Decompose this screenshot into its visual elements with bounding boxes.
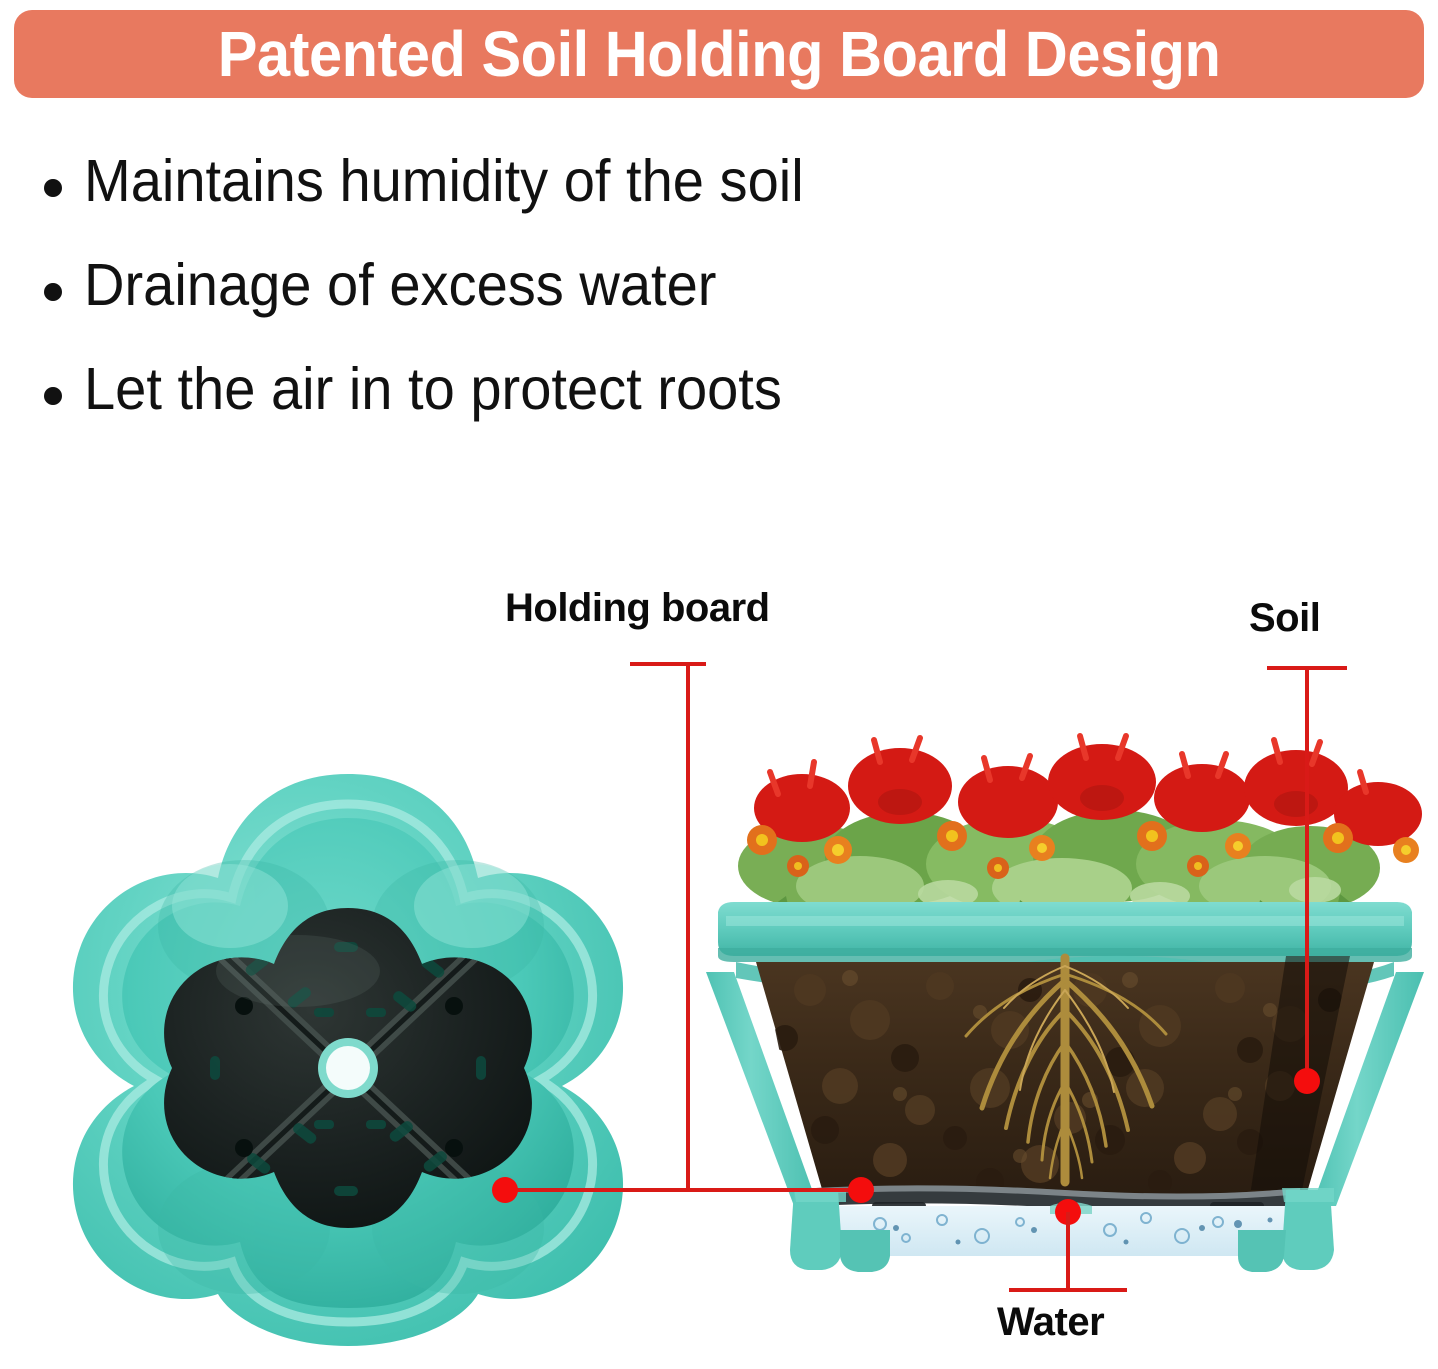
leader-bar-holding-board [505,1188,868,1192]
bullet-dot-icon [44,283,62,301]
leader-stem-holding-board [686,662,690,1190]
marker-holding-board-right [848,1177,874,1203]
bullet-dot-icon [44,179,62,197]
page-title: Patented Soil Holding Board Design [218,22,1221,86]
callout-label-holding-board: Holding board [505,586,770,631]
bullet-dot-icon [44,387,62,405]
leader-stem-soil [1305,666,1309,1078]
chrysanthemum-plants [738,736,1422,923]
header-banner: Patented Soil Holding Board Design [14,10,1424,98]
list-item: Let the air in to protect roots [44,358,1144,462]
list-item: Maintains humidity of the soil [44,150,1144,254]
list-item: Drainage of excess water [44,254,1144,358]
callout-label-water: Water [997,1300,1104,1345]
feature-text: Let the air in to protect roots [84,358,782,421]
leader-bar-water [1009,1288,1127,1292]
leader-cap-holding-board [630,662,706,666]
feature-text: Maintains humidity of the soil [84,150,804,213]
callout-label-soil: Soil [1249,596,1320,641]
marker-holding-board-left [492,1177,518,1203]
feature-list: Maintains humidity of the soil Drainage … [44,150,1144,462]
quatrefoil-planter-top-view [48,756,648,1356]
planter-top-illustration [48,756,648,1356]
leader-stem-water [1066,1212,1070,1290]
feature-text: Drainage of excess water [84,254,716,317]
center-drain-hole [318,1038,378,1098]
soil-layer [756,956,1374,1196]
marker-soil [1294,1068,1320,1094]
